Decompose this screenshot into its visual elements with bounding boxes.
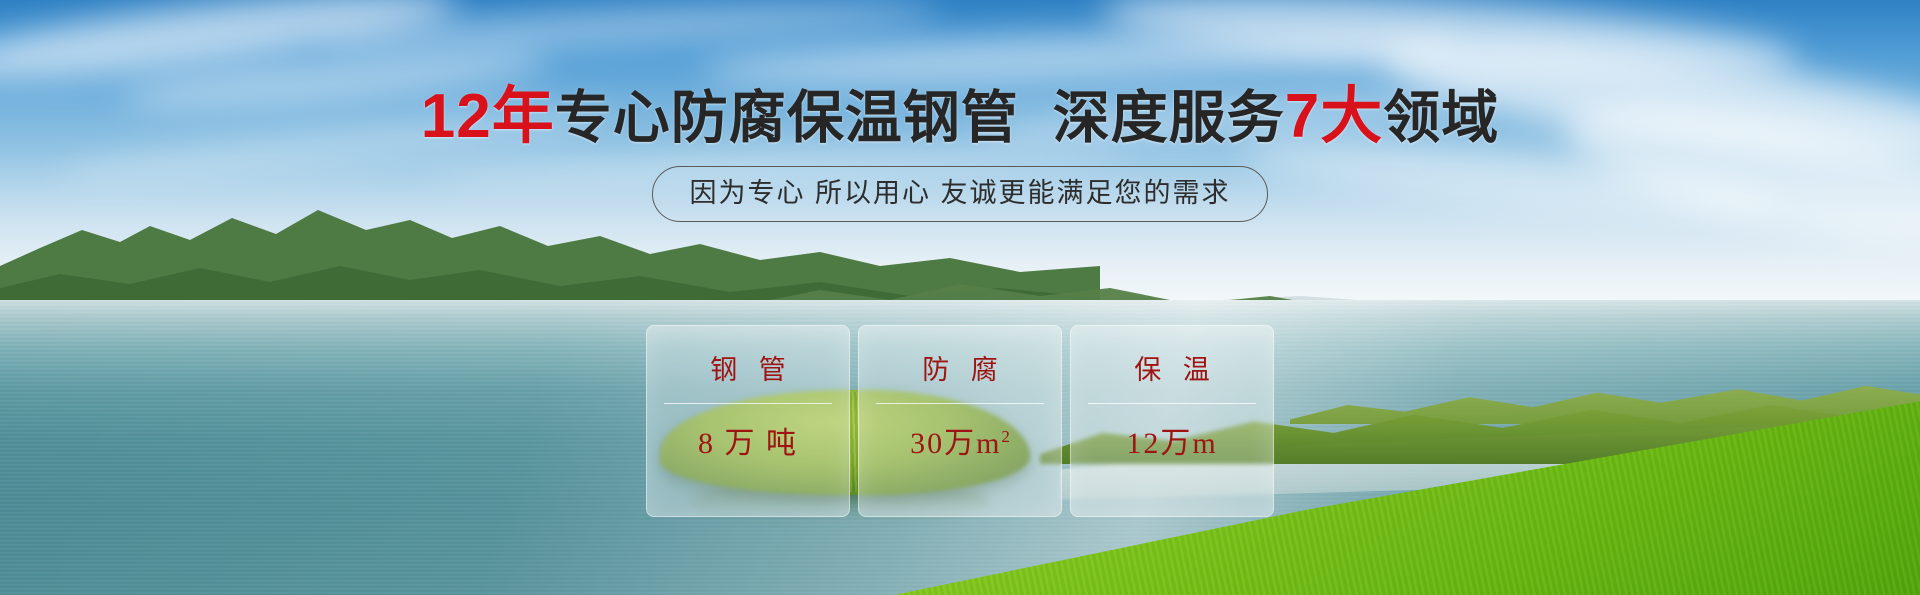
- stat-card-value-text: 30万m: [910, 427, 1001, 460]
- stat-card-value-sup: 2: [1001, 427, 1010, 446]
- stat-card-insulation[interactable]: 保 温 12万m: [1070, 325, 1274, 517]
- subtitle-pill: 因为专心 所以用心 友诚更能满足您的需求: [652, 166, 1267, 222]
- headline-fields: 领域: [1383, 86, 1499, 150]
- stat-card-title: 防 腐: [915, 348, 1005, 387]
- stat-card-title: 钢 管: [703, 348, 793, 387]
- subtitle-wrapper: 因为专心 所以用心 友诚更能满足您的需求: [0, 166, 1920, 222]
- stat-card-value: 12万m: [1126, 418, 1217, 462]
- stat-card-value-text: 12万m: [1126, 427, 1217, 460]
- headline-service: 深度服务: [1053, 86, 1285, 150]
- stat-card-title: 保 温: [1127, 348, 1217, 387]
- card-divider: [876, 403, 1044, 404]
- hero-banner: 12年专心防腐保温钢管深度服务7大领域 因为专心 所以用心 友诚更能满足您的需求…: [0, 0, 1920, 595]
- card-divider: [664, 403, 832, 404]
- stat-card-value: 8 万 吨: [698, 418, 798, 462]
- stat-card-value: 30万m2: [910, 418, 1010, 462]
- headline-main: 专心防腐保温钢管: [555, 86, 1019, 150]
- stat-card-anticorrosion[interactable]: 防 腐 30万m2: [858, 325, 1062, 517]
- stat-card-value-text: 8 万 吨: [698, 427, 798, 460]
- headline-seven: 7大: [1285, 82, 1383, 151]
- headline-years: 12年: [421, 82, 555, 151]
- banner-headline: 12年专心防腐保温钢管深度服务7大领域: [0, 86, 1920, 149]
- stat-card-steel-pipe[interactable]: 钢 管 8 万 吨: [646, 325, 850, 517]
- stat-card-group: 钢 管 8 万 吨 防 腐 30万m2 保 温 12万m: [0, 325, 1920, 517]
- card-divider: [1088, 403, 1256, 404]
